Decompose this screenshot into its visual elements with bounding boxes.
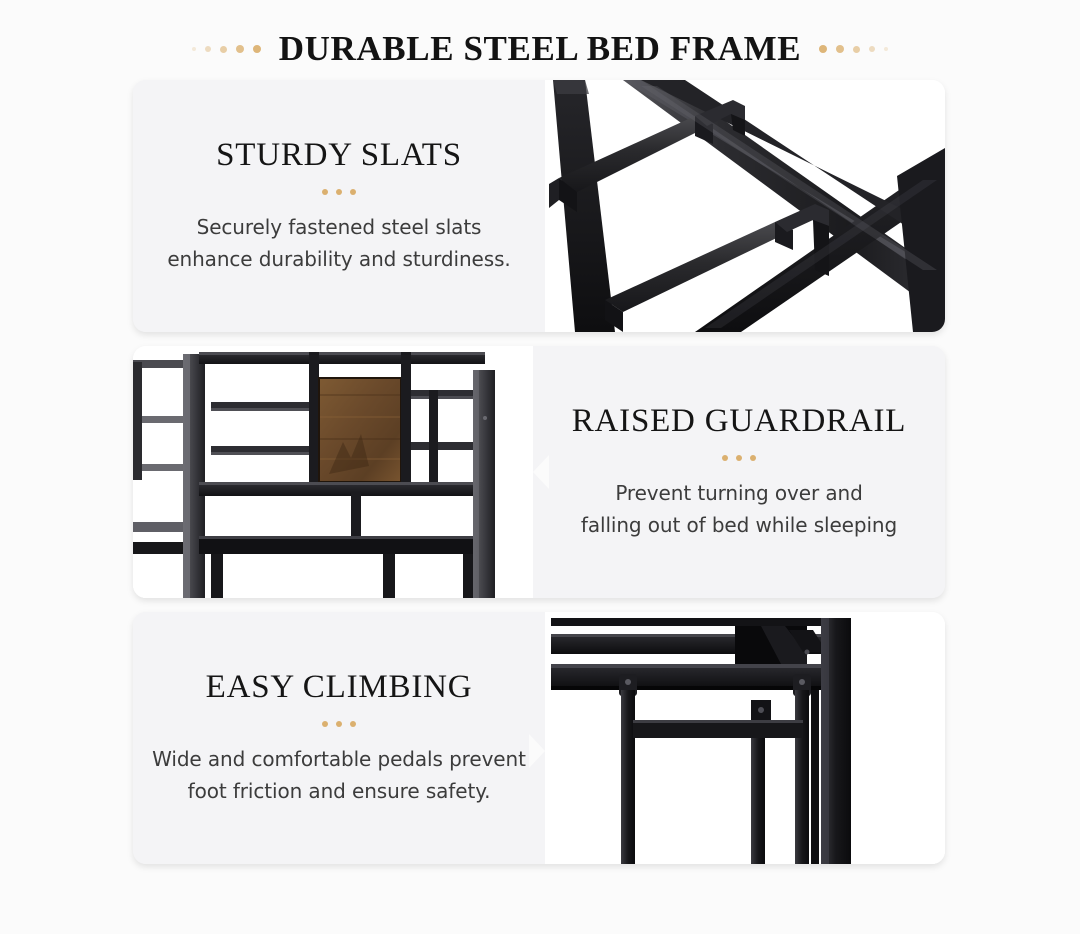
card-2-image-pane <box>133 346 533 598</box>
card-1-textblock: STURDY SLATS Securely fastened steel sla… <box>133 80 545 332</box>
card-1-body: Securely fastened steel slats enhance du… <box>167 211 510 276</box>
page-title: DURABLE STEEL BED FRAME <box>279 29 801 69</box>
card-1-heading: STURDY SLATS <box>216 137 462 174</box>
card-1-text-pane: STURDY SLATS Securely fastened steel sla… <box>133 80 545 332</box>
ladder-pedals-photo <box>545 612 945 864</box>
card-3-body: Wide and comfortable pedals prevent foot… <box>152 743 526 808</box>
card-1-dot-divider <box>322 189 356 195</box>
card-3-text-pane: EASY CLIMBING Wide and comfortable pedal… <box>133 612 545 864</box>
card-2-textblock: RAISED GUARDRAIL Prevent turning over an… <box>533 346 945 598</box>
steel-slats-photo <box>545 80 945 332</box>
card-3-image-pane <box>545 612 945 864</box>
card-3-dot-divider <box>322 721 356 727</box>
infographic-page: DURABLE STEEL BED FRAME STURDY SLATS Sec… <box>0 0 1080 934</box>
card-2-dot-divider <box>722 455 756 461</box>
card-3-textblock: EASY CLIMBING Wide and comfortable pedal… <box>133 612 545 864</box>
card-2-heading: RAISED GUARDRAIL <box>572 403 907 440</box>
card-3-heading: EASY CLIMBING <box>206 669 473 706</box>
guardrail-photo <box>133 346 533 598</box>
feature-card-raised-guardrail: RAISED GUARDRAIL Prevent turning over an… <box>133 346 945 598</box>
feature-card-easy-climbing: EASY CLIMBING Wide and comfortable pedal… <box>133 612 945 864</box>
decorative-dots-left <box>192 45 261 53</box>
feature-card-sturdy-slats: STURDY SLATS Securely fastened steel sla… <box>133 80 945 332</box>
card-2-text-pane: RAISED GUARDRAIL Prevent turning over an… <box>533 346 945 598</box>
card-1-image-pane <box>545 80 945 332</box>
card-2-body: Prevent turning over and falling out of … <box>581 477 897 542</box>
decorative-dots-right <box>819 45 888 53</box>
page-header: DURABLE STEEL BED FRAME <box>0 22 1080 76</box>
